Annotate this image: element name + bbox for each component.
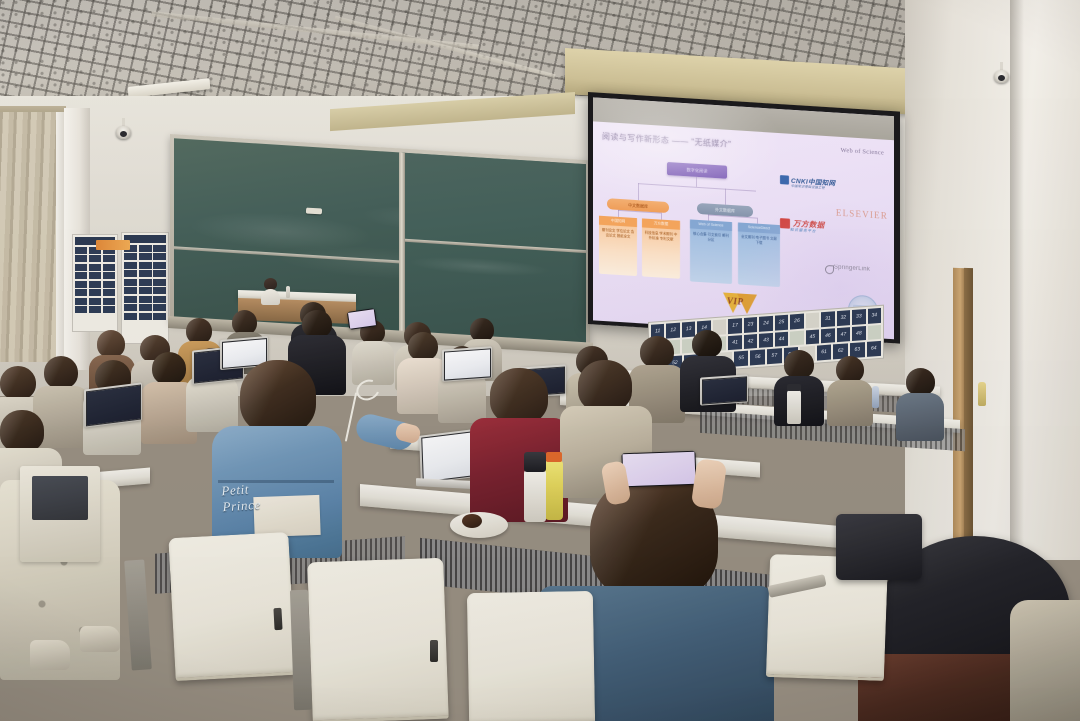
security-camera-right-icon: [994, 70, 1009, 83]
jacket-embroidery-text: Petit Prince: [221, 481, 261, 516]
chair-3[interactable]: [467, 591, 595, 721]
drink-bottle-back: [978, 382, 986, 406]
smartphone-raised[interactable]: [347, 308, 377, 330]
right-wall: [905, 0, 1080, 560]
jacket-patch: [253, 495, 320, 537]
web-of-science-logo: Web of Science: [841, 147, 884, 157]
diagram-box-cnki: 中国知网 期刊论文 学位论文 会议论文 报纸全文: [599, 216, 637, 276]
springerlink-logo: SpringerLink: [834, 264, 870, 272]
wall-chart-banner: [96, 240, 130, 250]
door-gap: [964, 268, 973, 568]
shoe-left: [30, 640, 70, 670]
shoe-right: [80, 626, 120, 652]
tote-bag-print: [32, 476, 88, 520]
slide-title: 阅读与写作新形态 —— "无纸媒介": [602, 131, 731, 150]
smartphone-recording[interactable]: [621, 451, 696, 488]
food-item: [462, 514, 482, 528]
diagram-connector: [725, 189, 726, 205]
diagram-root-box: 数字化阅读: [667, 162, 727, 179]
white-thermos: [524, 470, 546, 522]
presentation-slide: 阅读与写作新形态 —— "无纸媒介" Web of Science 数字化阅读 …: [593, 97, 894, 339]
diagram-box-sciencedirect: ScienceDirect 全文期刊 电子图书 文献下载: [738, 222, 780, 287]
lecture-hall-photo: 阅读与写作新形态 —— "无纸媒介" Web of Science 数字化阅读 …: [0, 0, 1080, 721]
diagram-connector: [638, 183, 639, 200]
diagram-box-wos: Web of Science 核心合集 引文索引 期刊分区: [690, 219, 732, 284]
thermos-cap-front: [524, 452, 546, 472]
yellow-drink-bottle: [545, 460, 563, 520]
water-bottle-back: [872, 386, 879, 408]
elsevier-logo: ELSEVIER: [836, 208, 888, 221]
thermos-back: [787, 390, 801, 424]
thermos-cap: [787, 384, 801, 391]
backpack: [836, 514, 922, 580]
photographer-hand-right: [691, 458, 727, 510]
chair-support-left: [124, 559, 152, 670]
chair-1-hinge: [273, 608, 282, 630]
diagram-box-wanfang: 万方数据 科技信息 学术期刊 中外标准 专利文献: [642, 218, 680, 278]
earphone-cable: [345, 392, 357, 441]
security-camera-left-icon: [116, 126, 131, 139]
diagram-connector: [638, 183, 756, 191]
window-curtain: [0, 112, 62, 362]
yellow-bottle-cap: [546, 452, 562, 462]
right-wall-edge: [1010, 0, 1024, 560]
chair-2[interactable]: [307, 558, 449, 721]
wanfang-mark-icon: [780, 218, 790, 229]
chair-2-hinge: [430, 640, 438, 662]
diagram-connector: [696, 177, 697, 187]
lecturer-bottle: [286, 286, 290, 298]
chair-1[interactable]: [168, 532, 295, 681]
diagram-connector: [661, 213, 662, 220]
blackboard-panel-right: [401, 153, 586, 345]
cnki-mark-icon: [780, 175, 789, 185]
wanfang-logo: 万方数据 知识服务平台: [780, 217, 854, 240]
diagram-root-label: 数字化阅读: [667, 162, 727, 179]
blackboard-clip: [306, 208, 322, 215]
cnki-logo: CNKI中国知网 中国知识基础设施工程: [780, 171, 846, 191]
